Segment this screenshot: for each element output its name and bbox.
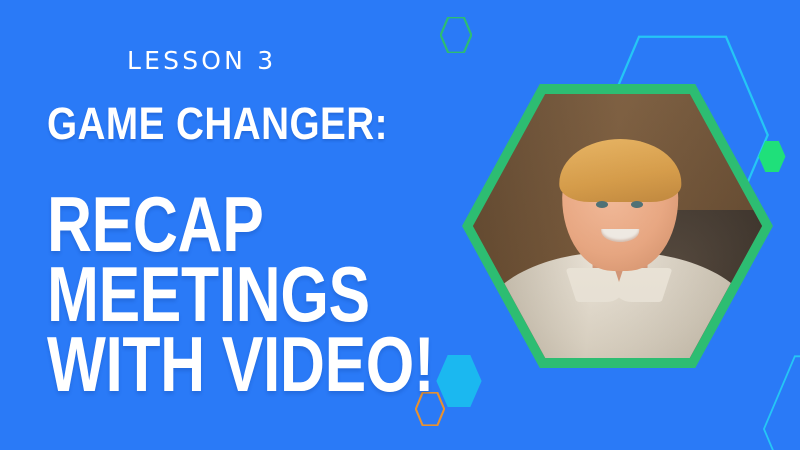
slide-subtitle: GAME CHANGER: [47,101,388,146]
hexagon-outline-cyan-corner-icon [762,355,800,450]
hexagon-outline-green-icon [440,17,472,53]
presenter-photo-hexagon [462,84,773,368]
lesson-title-slide: LESSON 3 GAME CHANGER: RECAP MEETINGS WI… [0,0,800,450]
headline-line-3: WITH VIDEO! [47,329,367,399]
slide-text-block: LESSON 3 GAME CHANGER: RECAP MEETINGS WI… [0,0,440,450]
lesson-label: LESSON 3 [127,48,276,73]
headline-line-2: MEETINGS [47,259,367,329]
slide-headline: RECAP MEETINGS WITH VIDEO! [47,189,447,399]
headline-line-1: RECAP [47,189,367,259]
